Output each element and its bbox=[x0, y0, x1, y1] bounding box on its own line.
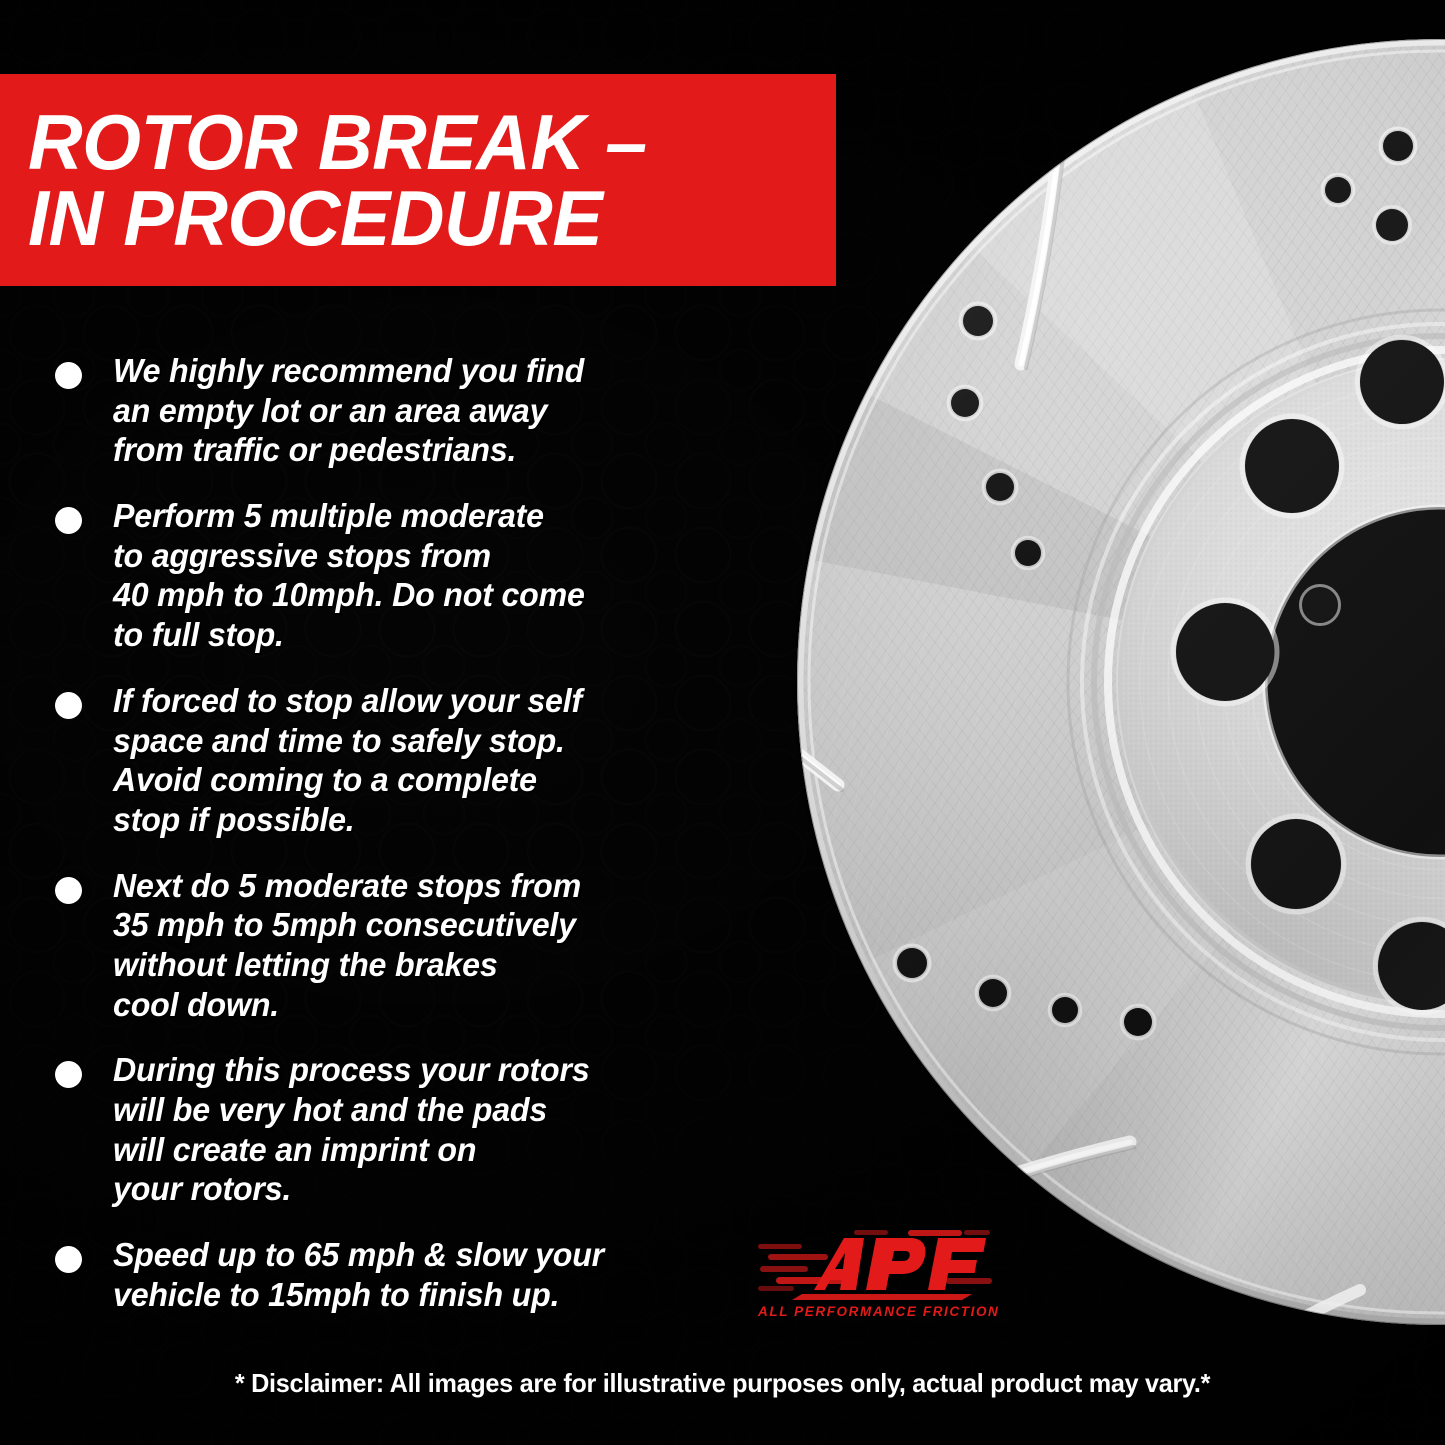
list-item-label: Next do 5 moderate stops from 35 mph to … bbox=[113, 867, 581, 1026]
list-item-label: Speed up to 65 mph & slow your vehicle t… bbox=[113, 1236, 604, 1315]
bullet-dot-icon bbox=[55, 362, 82, 389]
disclaimer-text: * Disclaimer: All images are for illustr… bbox=[22, 1368, 1424, 1399]
list-item-label: Perform 5 multiple moderate to aggressiv… bbox=[113, 497, 585, 656]
apf-brand-logo: ALL PERFORMANCE FRICTION bbox=[758, 1228, 994, 1332]
list-item: Perform 5 multiple moderate to aggressiv… bbox=[0, 497, 770, 656]
list-item-label: If forced to stop allow your self space … bbox=[113, 682, 582, 841]
apf-tagline: ALL PERFORMANCE FRICTION bbox=[758, 1304, 994, 1319]
bullet-dot-icon bbox=[55, 692, 82, 719]
list-item: If forced to stop allow your self space … bbox=[0, 682, 770, 841]
bullet-dot-icon bbox=[55, 507, 82, 534]
bullet-dot-icon bbox=[55, 1061, 82, 1088]
title-banner: ROTOR BREAK – IN PROCEDURE bbox=[0, 74, 836, 286]
apf-logo-mark bbox=[758, 1228, 994, 1302]
list-item-label: We highly recommend you find an empty lo… bbox=[113, 352, 584, 471]
list-item: During this process your rotors will be … bbox=[0, 1051, 770, 1210]
list-item: Next do 5 moderate stops from 35 mph to … bbox=[0, 867, 770, 1026]
bullet-dot-icon bbox=[55, 1246, 82, 1273]
list-item-label: During this process your rotors will be … bbox=[113, 1051, 590, 1210]
bullet-dot-icon bbox=[55, 877, 82, 904]
procedure-steps-list: We highly recommend you find an empty lo… bbox=[0, 352, 770, 1341]
page-title-line-2: IN PROCEDURE bbox=[28, 180, 812, 256]
poster-canvas: ROTOR BREAK – IN PROCEDURE We highly rec… bbox=[0, 0, 1445, 1445]
list-item: We highly recommend you find an empty lo… bbox=[0, 352, 770, 471]
page-title-line-1: ROTOR BREAK – bbox=[28, 104, 812, 180]
list-item: Speed up to 65 mph & slow your vehicle t… bbox=[0, 1236, 770, 1315]
